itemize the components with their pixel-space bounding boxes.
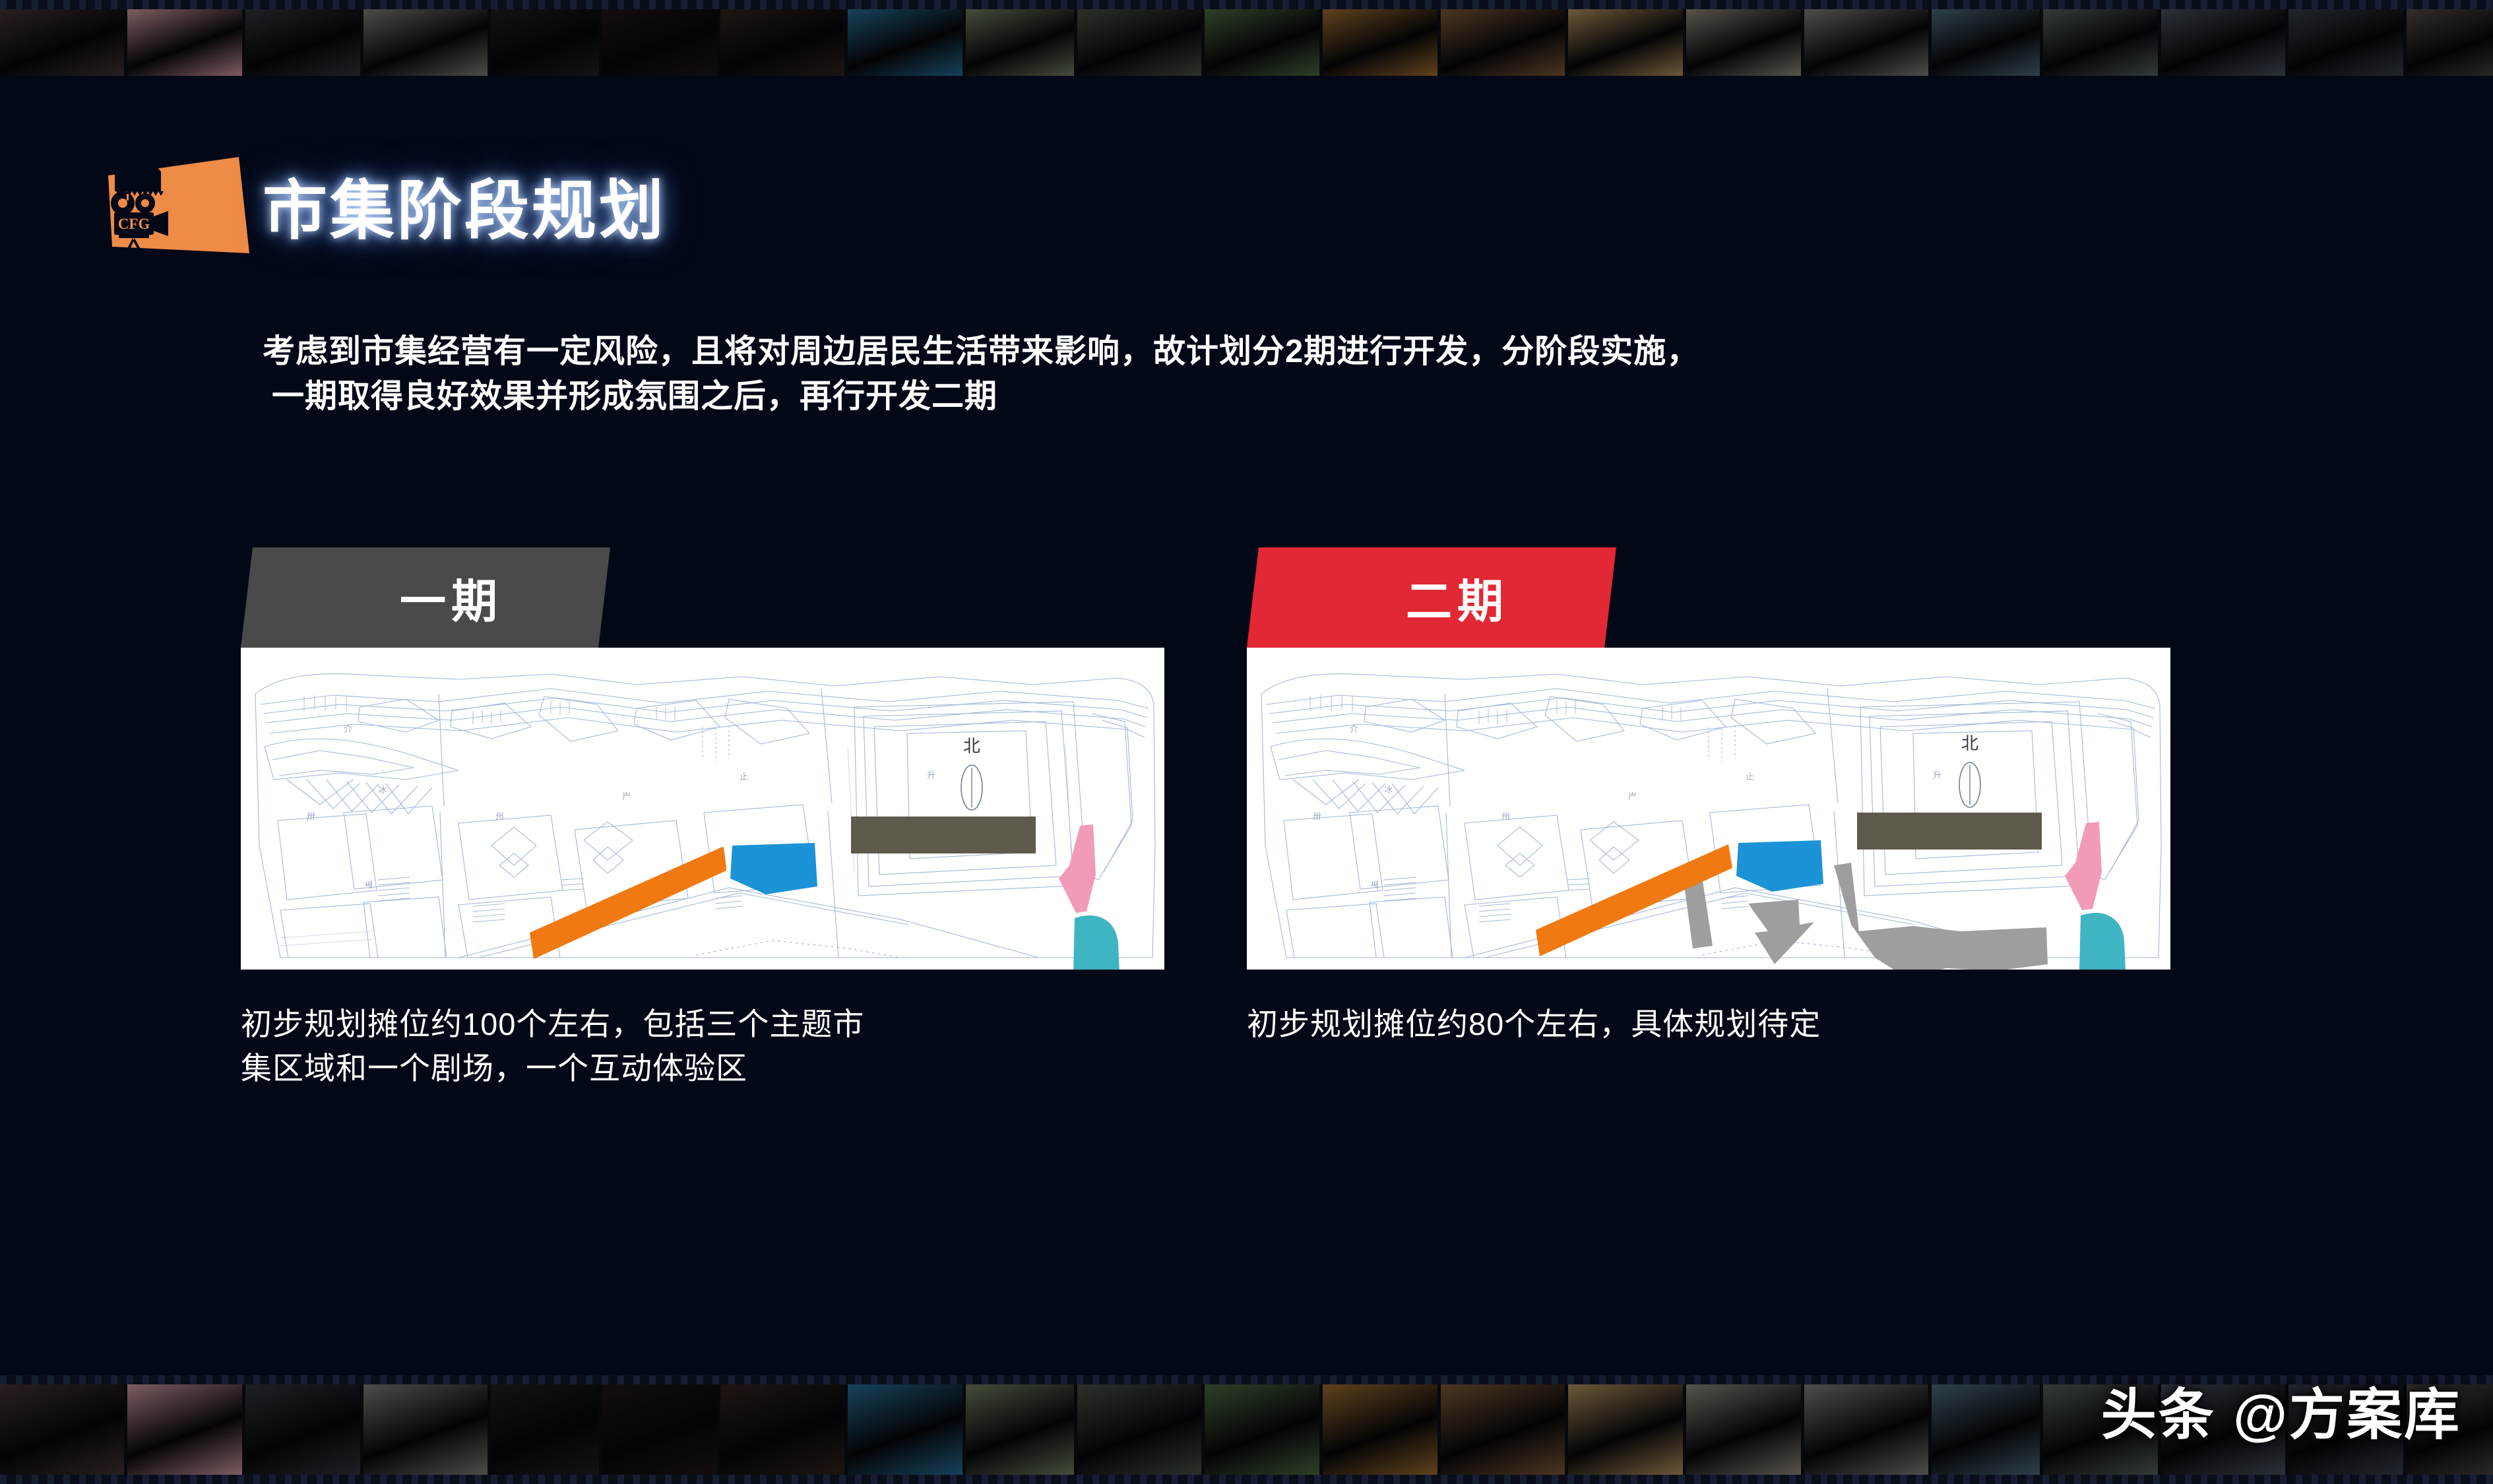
phase-1-caption-line-1: 初步规划摊位约100个左右，包括三个主题市 xyxy=(241,1003,1138,1047)
svg-text:升: 升 xyxy=(1933,770,1941,780)
phase-2-caption-line-1: 初步规划摊位约80个左右，具体规划待定 xyxy=(1247,1003,2144,1047)
film-frame-image xyxy=(1932,1384,2040,1475)
svg-text:止: 止 xyxy=(740,772,748,782)
film-frame-image xyxy=(363,1384,488,1475)
phase-1-column: 一期 xyxy=(241,547,1164,1090)
film-frame xyxy=(1441,9,1565,76)
film-frame-image xyxy=(720,9,844,76)
film-frame xyxy=(966,9,1074,76)
film-frame-image xyxy=(491,1384,599,1475)
film-frame-image xyxy=(2161,9,2285,76)
map-overlay-dark-olive-bar xyxy=(1857,813,2042,850)
film-frame xyxy=(848,1384,962,1475)
phase-2-caption: 初步规划摊位约80个左右，具体规划待定 xyxy=(1247,1003,2144,1047)
film-frame-image xyxy=(245,9,360,76)
film-frame xyxy=(245,1384,360,1475)
film-frame xyxy=(2407,9,2493,76)
film-frame-image xyxy=(1441,9,1565,76)
intro-paragraph: 考虑到市集经营有一定风险，且将对周边居民生活带来影响，故计划分2期进行开发，分阶… xyxy=(263,330,2209,419)
film-frame-image xyxy=(1804,1384,1928,1475)
film-frame xyxy=(1568,1384,1683,1475)
film-sprocket-row-top xyxy=(0,0,2493,9)
film-frame xyxy=(720,9,844,76)
film-frame xyxy=(245,9,360,76)
svg-text:冰: 冰 xyxy=(1384,785,1393,795)
film-frame-image xyxy=(602,9,717,76)
phase-2-site-plan: 介 冰 卅 州 屵 止 쌔 升 州 xyxy=(1247,648,2170,970)
film-frame-image xyxy=(720,1384,844,1475)
svg-text:冰: 冰 xyxy=(378,785,387,795)
svg-text:州: 州 xyxy=(495,811,504,821)
film-sprocket-row-bottom-lower xyxy=(0,1475,2493,1484)
film-frame xyxy=(127,1384,242,1475)
film-frame xyxy=(2288,9,2403,76)
film-frame-image xyxy=(127,9,242,76)
phase-1-caption: 初步规划摊位约100个左右，包括三个主题市 集区域和一个剧场，一个互动体验区 xyxy=(241,1003,1138,1090)
film-frame-image xyxy=(1205,1384,1319,1475)
film-frame-image xyxy=(1205,9,1319,76)
film-frame-image xyxy=(966,1384,1074,1475)
svg-text:屵: 屵 xyxy=(622,791,631,801)
film-frame xyxy=(2043,9,2158,76)
svg-text:屵: 屵 xyxy=(1628,791,1637,801)
intro-line-1: 考虑到市集经营有一定风险，且将对周边居民生活带来影响，故计划分2期进行开发，分阶… xyxy=(263,330,2209,375)
film-frame-image xyxy=(2288,9,2403,76)
svg-text:卅: 卅 xyxy=(1313,811,1321,821)
film-frame xyxy=(966,1384,1074,1475)
film-frame-image xyxy=(848,1384,962,1475)
film-frame-image xyxy=(848,9,962,76)
slide-canvas: CFG 市集阶段规划 考虑到市集经营有一定风险，且将对周边居民生活带来影响，故计… xyxy=(0,0,2493,1484)
film-frame-image xyxy=(1323,1384,1437,1475)
film-frame-image xyxy=(245,1384,360,1475)
phase-1-badge-label: 一期 xyxy=(241,547,610,648)
film-frame-image xyxy=(0,1384,124,1475)
phase-2-badge-label: 二期 xyxy=(1247,547,1616,648)
film-frame xyxy=(848,9,962,76)
film-frame xyxy=(1077,9,1201,76)
phase-1-site-plan: 介 冰 卅 州 屵 止 쌔 升 州 xyxy=(241,648,1164,970)
svg-text:介: 介 xyxy=(344,724,352,734)
film-frame xyxy=(1205,1384,1319,1475)
film-frame xyxy=(1205,9,1319,76)
film-frame xyxy=(2161,9,2285,76)
film-frame xyxy=(0,9,124,76)
film-frame-image xyxy=(363,9,488,76)
film-frame xyxy=(1323,1384,1437,1475)
svg-text:北: 北 xyxy=(1961,733,1978,753)
film-frame-image xyxy=(1323,9,1437,76)
intro-line-2: 一期取得良好效果并形成氛围之后，再行开发二期 xyxy=(263,375,2209,419)
film-frame-image xyxy=(1932,9,2040,76)
film-frame xyxy=(1686,9,1801,76)
film-frame xyxy=(491,1384,599,1475)
film-frame-image xyxy=(491,9,599,76)
cfg-camera-logo: CFG xyxy=(92,153,257,265)
phase-2-badge: 二期 xyxy=(1247,547,1616,648)
film-frame xyxy=(1441,1384,1565,1475)
film-frame-image xyxy=(127,1384,242,1475)
film-frame xyxy=(1077,1384,1201,1475)
film-frame-image xyxy=(966,9,1074,76)
film-frame xyxy=(1932,1384,2040,1475)
film-frame xyxy=(1804,1384,1928,1475)
svg-text:쌔: 쌔 xyxy=(365,880,373,890)
film-frame xyxy=(720,1384,844,1475)
film-frame xyxy=(1323,9,1437,76)
map-overlay-dark-olive-bar xyxy=(851,817,1036,853)
film-frame-image xyxy=(1686,1384,1801,1475)
film-frame xyxy=(0,1384,124,1475)
svg-text:쌔: 쌔 xyxy=(1371,880,1379,890)
film-frame-image xyxy=(1441,1384,1565,1475)
film-frame-image xyxy=(1804,9,1928,76)
film-frame xyxy=(127,9,242,76)
film-frame-image xyxy=(1568,9,1683,76)
svg-text:介: 介 xyxy=(1350,724,1358,734)
page-title: 市集阶段规划 xyxy=(263,158,666,252)
phase-1-badge: 一期 xyxy=(241,547,610,648)
film-frame xyxy=(491,9,599,76)
film-frame-image xyxy=(602,1384,717,1475)
svg-text:升: 升 xyxy=(927,770,935,780)
svg-text:止: 止 xyxy=(1746,772,1754,782)
film-frame-image xyxy=(1077,9,1201,76)
film-frame xyxy=(602,1384,717,1475)
film-frame-image xyxy=(0,9,124,76)
film-frame-image xyxy=(2407,9,2493,76)
phase-2-column: 二期 xyxy=(1247,547,2170,1047)
film-frame-row-top xyxy=(0,9,2493,76)
film-frame xyxy=(363,9,488,76)
film-frame-image xyxy=(1077,1384,1201,1475)
film-frame xyxy=(602,9,717,76)
film-frame xyxy=(1804,9,1928,76)
filmstrip-top xyxy=(0,0,2493,76)
film-frame xyxy=(1686,1384,1801,1475)
svg-text:卅: 卅 xyxy=(307,811,315,821)
svg-text:北: 北 xyxy=(963,736,980,756)
film-frame-image xyxy=(1568,1384,1683,1475)
film-frame-image xyxy=(1686,9,1801,76)
film-frame xyxy=(1568,9,1683,76)
svg-text:州: 州 xyxy=(1501,811,1510,821)
film-frame xyxy=(363,1384,488,1475)
film-frame xyxy=(1932,9,2040,76)
watermark-text: 头条 @方案库 xyxy=(2101,1371,2461,1450)
phase-1-caption-line-2: 集区域和一个剧场，一个互动体验区 xyxy=(241,1047,1138,1091)
film-frame-image xyxy=(2043,9,2158,76)
